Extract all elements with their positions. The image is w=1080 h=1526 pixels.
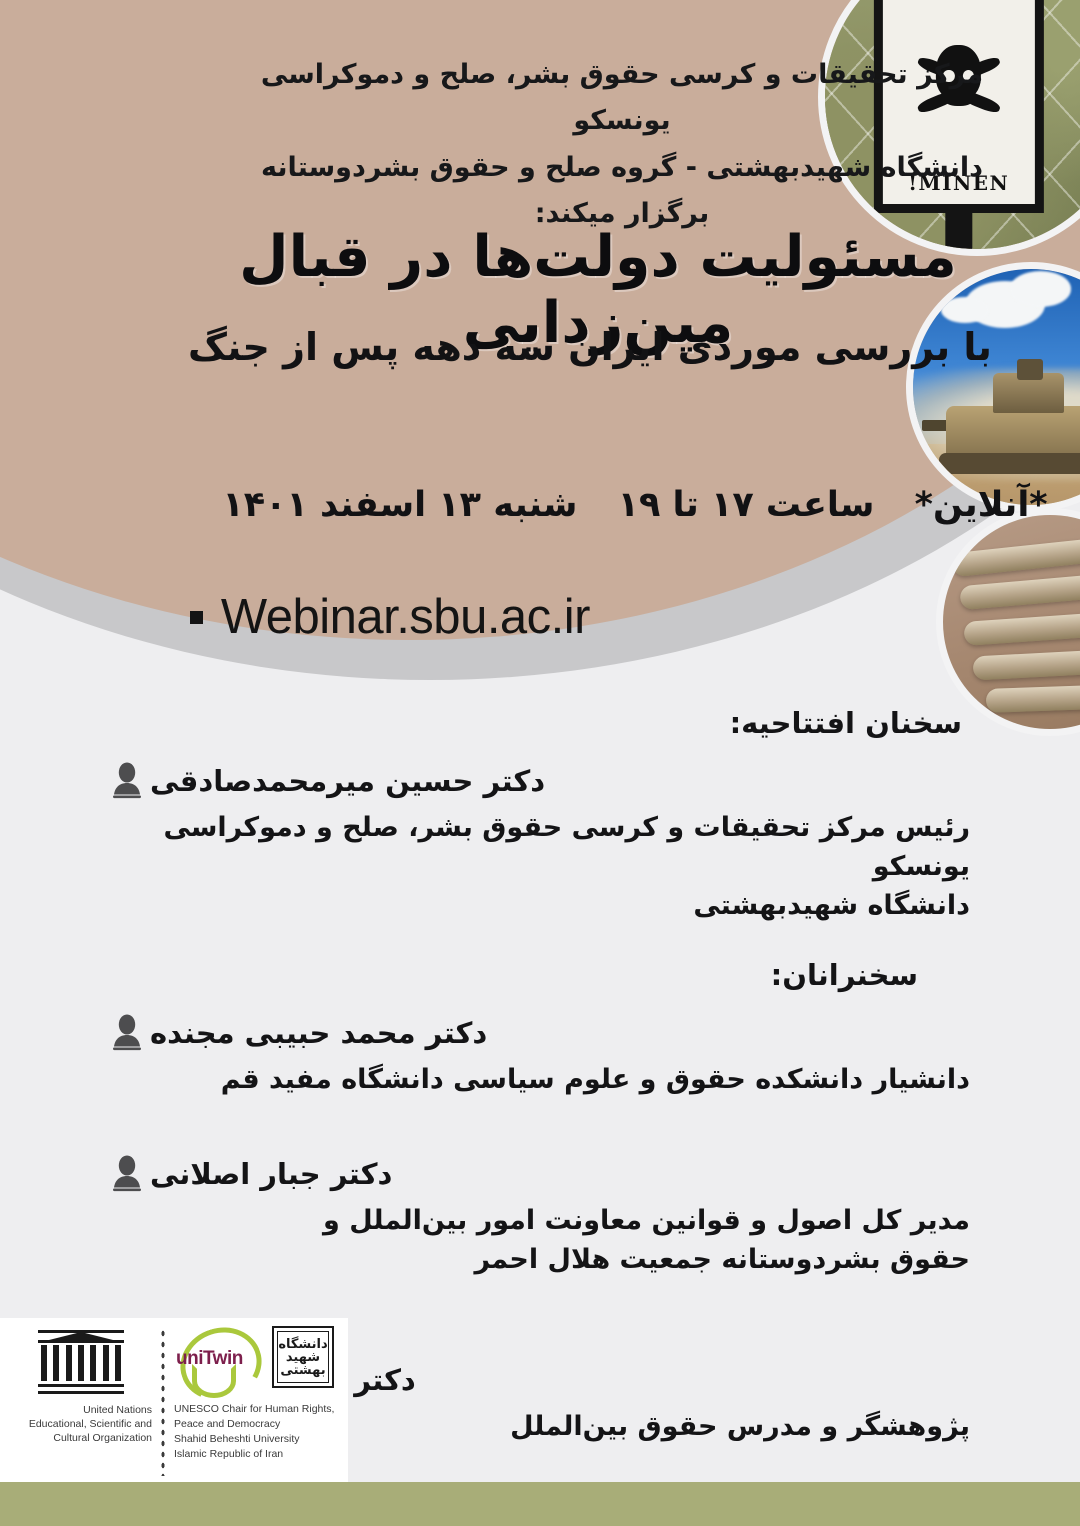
organizer-line-1: مرکز تحقیقات و کرسی حقوق بشر، صلح و دموک… — [222, 52, 1022, 145]
speaker-affiliation: دانشیار دانشکده حقوق و علوم سیاسی دانشگا… — [110, 1060, 970, 1099]
speakers-heading: سخنرانان: — [110, 958, 918, 992]
opening-remarks-heading: سخنان افتتاحیه: — [110, 706, 962, 740]
opening-speaker-name: دکتر حسین میرمحمدصادقی — [150, 764, 545, 798]
organizer-header: مرکز تحقیقات و کرسی حقوق بشر، صلح و دموک… — [222, 52, 1022, 238]
speaker-row: دکتر محمد حبیبی مجنده — [110, 1014, 868, 1052]
event-mode: *آنلاین* — [915, 485, 1048, 525]
speaker-name: دکتر جبار اصلانی — [150, 1157, 392, 1191]
footer-accent-bar — [0, 1482, 1080, 1526]
affiliation-line-2: حقوق بشردوستانه جمعیت هلال احمر — [110, 1240, 970, 1279]
chair-logo-block: uniTwin دانشگاه شهید بهشتی UNESCO Chair … — [174, 1326, 342, 1476]
speaker-name: دکتر محمد حبیبی مجنده — [150, 1016, 487, 1050]
speaker-affiliation: مدیر کل اصول و قوانین معاونت امور بین‌ال… — [110, 1201, 970, 1279]
opening-speaker-affiliation: رئیس مرکز تحقیقات و کرسی حقوق بشر، صلح و… — [110, 808, 970, 925]
person-icon — [110, 1155, 144, 1193]
speaker-item: دکتر جبار اصلانی مدیر کل اصول و قوانین م… — [110, 1155, 970, 1279]
unesco-caption-line-1: United Nations — [10, 1403, 152, 1417]
webinar-url[interactable]: Webinar.sbu.ac.ir — [221, 589, 590, 645]
footer-logo-card: United Nations Educational, Scientific a… — [0, 1318, 348, 1482]
chair-caption: UNESCO Chair for Human Rights, Peace and… — [174, 1402, 342, 1462]
chair-caption-line-4: Islamic Republic of Iran — [174, 1447, 342, 1462]
page-subtitle: با بررسی موردی ایران سه دهه پس از جنگ — [140, 325, 1040, 369]
affiliation-line-1: دانشیار دانشکده حقوق و علوم سیاسی دانشگا… — [110, 1060, 970, 1099]
chair-caption-line-1: UNESCO Chair for Human Rights, — [174, 1402, 342, 1417]
webinar-link-row[interactable]: Webinar.sbu.ac.ir — [190, 589, 590, 645]
event-poster: ACHTUNG MINEN! — [0, 0, 1080, 1526]
person-icon — [110, 1014, 144, 1052]
affiliation-line-2: دانشگاه شهیدبهشتی — [110, 886, 970, 925]
opening-speaker-row: دکتر حسین میرمحمدصادقی — [110, 762, 970, 800]
unitwin-wordmark: uniTwin — [176, 1348, 264, 1370]
sbu-logo-glyph: دانشگاه شهید بهشتی — [278, 1338, 328, 1377]
unesco-logo-block: United Nations Educational, Scientific a… — [10, 1326, 152, 1476]
opening-remarks-section: سخنان افتتاحیه: دکتر حسین میرمحمدصادقی ر… — [110, 706, 970, 925]
speaker-item: دکتر محمد حبیبی مجنده دانشیار دانشکده حق… — [110, 1014, 970, 1099]
event-time: ساعت ۱۷ تا ۱۹ — [618, 485, 875, 525]
unitwin-logo: uniTwin — [174, 1326, 262, 1392]
unesco-caption-line-2: Educational, Scientific and — [10, 1417, 152, 1431]
affiliation-line-1: مدیر کل اصول و قوانین معاونت امور بین‌ال… — [110, 1201, 970, 1240]
unesco-caption: United Nations Educational, Scientific a… — [10, 1403, 152, 1446]
square-bullet-icon — [190, 611, 203, 624]
speaker-row: دکتر جبار اصلانی — [110, 1155, 962, 1193]
event-datetime-line: *آنلاین* ساعت ۱۷ تا ۱۹ شنبه ۱۳ اسفند ۱۴۰… — [200, 485, 1070, 525]
shahid-beheshti-university-logo: دانشگاه شهید بهشتی — [272, 1326, 334, 1388]
person-icon — [110, 762, 144, 800]
dotted-divider — [156, 1328, 170, 1476]
unesco-caption-line-3: Cultural Organization — [10, 1431, 152, 1445]
chair-caption-line-2: Peace and Democracy — [174, 1417, 342, 1432]
event-date: شنبه ۱۳ اسفند ۱۴۰۱ — [222, 485, 577, 525]
unesco-temple-icon — [38, 1330, 124, 1394]
chair-caption-line-3: Shahid Beheshti University — [174, 1432, 342, 1447]
affiliation-line-1: رئیس مرکز تحقیقات و کرسی حقوق بشر، صلح و… — [110, 808, 970, 886]
